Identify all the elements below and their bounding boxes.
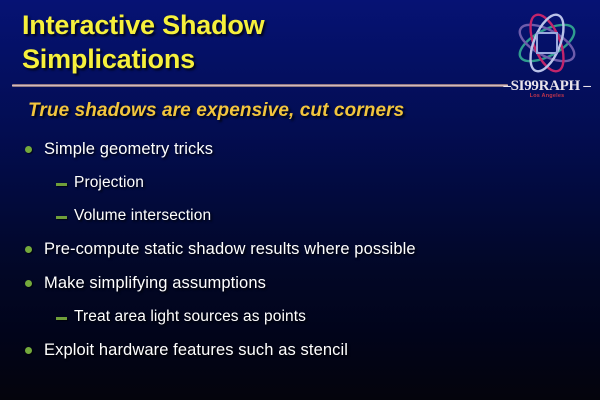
dash-bullet-icon bbox=[56, 183, 67, 186]
siggraph-city-label: Los Angeles bbox=[498, 93, 596, 99]
list-item: Exploit hardware features such as stenci… bbox=[0, 337, 600, 371]
list-item: Simple geometry tricks bbox=[0, 136, 600, 170]
list-item-label: Volume intersection bbox=[74, 203, 211, 229]
list-item-label: Treat area light sources as points bbox=[74, 304, 306, 330]
dash-bullet-icon bbox=[56, 317, 67, 320]
round-bullet-icon bbox=[25, 347, 32, 354]
title-line-1: Interactive Shadow bbox=[22, 8, 492, 42]
list-item: Treat area light sources as points bbox=[0, 304, 600, 337]
list-item: Projection bbox=[0, 170, 600, 203]
title-divider-rule bbox=[12, 84, 508, 87]
siggraph-logo: –SI99RAPH – Los Angeles bbox=[498, 6, 596, 104]
round-bullet-icon bbox=[25, 146, 32, 153]
round-bullet-icon bbox=[25, 246, 32, 253]
title-line-2: Simplications bbox=[22, 42, 492, 76]
list-item: Pre-compute static shadow results where … bbox=[0, 236, 600, 270]
list-item: Make simplifying assumptions bbox=[0, 270, 600, 304]
list-item-label: Pre-compute static shadow results where … bbox=[44, 236, 416, 262]
slide-canvas: Interactive Shadow Simplications True sh… bbox=[0, 0, 600, 400]
list-item-label: Exploit hardware features such as stenci… bbox=[44, 337, 348, 363]
list-item-label: Make simplifying assumptions bbox=[44, 270, 266, 296]
siggraph-rings-icon bbox=[506, 6, 588, 80]
bullet-list: Simple geometry tricks Projection Volume… bbox=[0, 136, 600, 371]
list-item-label: Simple geometry tricks bbox=[44, 136, 213, 162]
list-item-label: Projection bbox=[74, 170, 144, 196]
page-title: Interactive Shadow Simplications bbox=[22, 8, 492, 76]
dash-bullet-icon bbox=[56, 216, 67, 219]
round-bullet-icon bbox=[25, 280, 32, 287]
slide-subtitle: True shadows are expensive, cut corners bbox=[28, 100, 404, 122]
list-item: Volume intersection bbox=[0, 203, 600, 236]
